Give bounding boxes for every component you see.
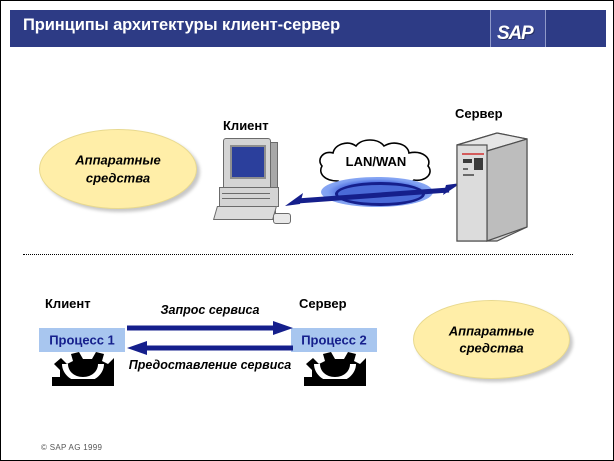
server-label-top: Сервер (455, 106, 503, 121)
base-slot-line (222, 198, 270, 199)
process-box-server: Процесс 2 (291, 328, 377, 352)
client-label-bottom: Клиент (45, 296, 91, 311)
hardware-ellipse-bottom-line1: Аппаратные (449, 323, 534, 338)
keyboard-icon (213, 206, 277, 220)
hardware-ellipse-top-text: Аппаратные средства (40, 151, 196, 186)
header-wedge-decoration (546, 10, 574, 47)
mouse-icon (273, 213, 291, 224)
client-server-double-arrow (283, 179, 463, 209)
sap-logo: SAP (497, 23, 532, 45)
server-label-bottom: Сервер (299, 296, 347, 311)
slide-canvas: Принципы архитектуры клиент-сервер SAP А… (0, 0, 614, 461)
client-label-top: Клиент (223, 118, 269, 133)
section-divider (23, 254, 573, 255)
process-box-client-label: Процесс 1 (39, 333, 125, 348)
service-response-caption: Предоставление сервиса (127, 357, 293, 373)
copyright-footer: © SAP AG 1999 (41, 443, 102, 452)
server-tower-icon (453, 131, 531, 243)
service-request-caption: Запрос сервиса (127, 303, 293, 317)
monitor-screen (230, 145, 266, 179)
service-exchange-arrows (127, 321, 293, 355)
process-box-client: Процесс 1 (39, 328, 125, 352)
hardware-ellipse-top-line2: средства (86, 170, 150, 185)
page-title: Принципы архитектуры клиент-сервер (23, 16, 340, 35)
hardware-ellipse-top: Аппаратные средства (39, 129, 197, 209)
network-cloud-label: LAN/WAN (312, 154, 440, 169)
hardware-ellipse-bottom-text: Аппаратные средства (414, 322, 569, 357)
hardware-ellipse-bottom-line2: средства (459, 341, 523, 356)
hardware-ellipse-top-line1: Аппаратные (75, 152, 160, 167)
gear-cog-icon (304, 352, 366, 386)
process-box-server-label: Процесс 2 (291, 333, 377, 348)
gear-cog-icon (52, 352, 114, 386)
desktop-computer-icon (213, 138, 293, 234)
base-slot-line (222, 193, 270, 194)
computer-base-unit (219, 187, 279, 207)
hardware-ellipse-bottom: Аппаратные средства (413, 300, 570, 379)
